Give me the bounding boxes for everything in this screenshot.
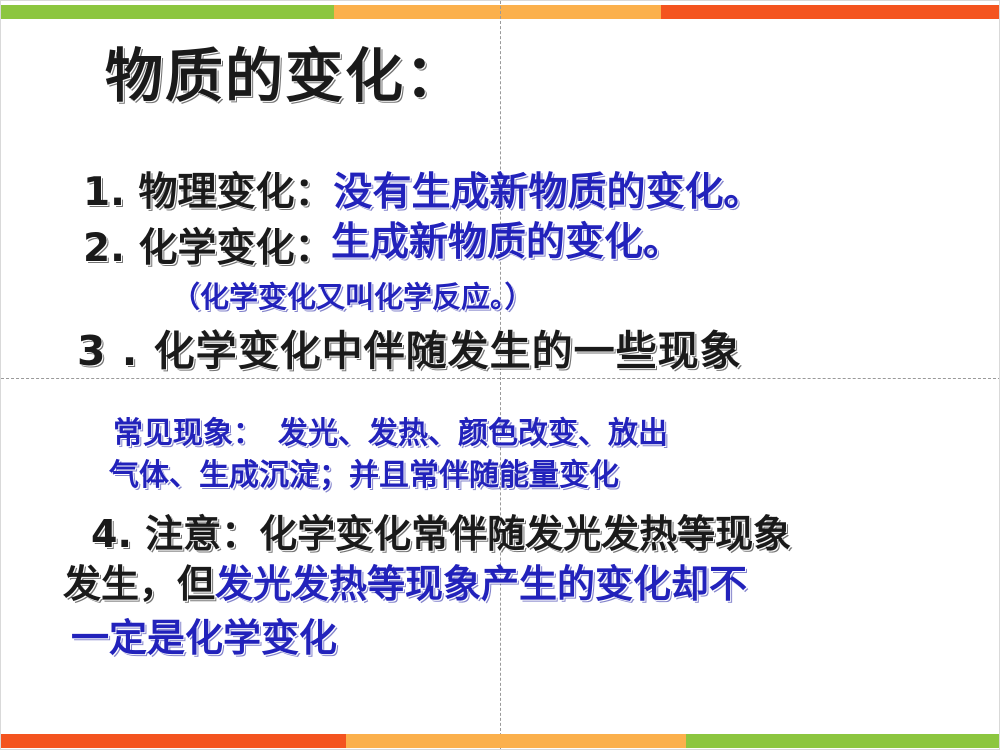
horizontal-guide-line bbox=[1, 378, 1000, 379]
bottom-bar-red-segment bbox=[1, 734, 346, 748]
item4-line-2: 发生，但发光发热等现象产生的变化却不 bbox=[63, 565, 747, 603]
top-bar-red-segment bbox=[661, 5, 1000, 19]
vertical-guide-line bbox=[500, 1, 501, 750]
item3-label: 3 . 化学变化中伴随发生的一些现象 bbox=[77, 331, 742, 372]
item2-note: （化学变化又叫化学反应。） bbox=[171, 283, 534, 312]
top-bar-orange-segment bbox=[334, 5, 661, 19]
slide-canvas: 物质的变化： 1. 物理变化：没有生成新物质的变化。 2. 化学变化： 生成新物… bbox=[0, 0, 1000, 750]
top-color-bar bbox=[1, 5, 1000, 19]
top-bar-green-segment bbox=[1, 5, 334, 19]
bottom-bar-orange-segment bbox=[346, 734, 686, 748]
bottom-color-bar bbox=[1, 734, 1000, 748]
item1-label: 1. 物理变化： bbox=[83, 170, 334, 215]
item1-definition: 没有生成新物质的变化。 bbox=[334, 170, 763, 215]
page-title: 物质的变化： bbox=[105, 47, 465, 105]
phenomena-line-2: 气体、生成沉淀；并且常伴随能量变化 bbox=[109, 461, 619, 491]
item4-line2-blue: 发光发热等现象产生的变化却不 bbox=[215, 562, 747, 606]
item4-line-3: 一定是化学变化 bbox=[71, 619, 337, 657]
bottom-bar-green-segment bbox=[686, 734, 1000, 748]
item2-label: 2. 化学变化： bbox=[83, 229, 334, 268]
item4-line2-black: 发生，但 bbox=[63, 562, 215, 606]
phenomena-line-1: 常见现象： 发光、发热、颜色改变、放出 bbox=[113, 419, 668, 449]
list-item-1: 1. 物理变化：没有生成新物质的变化。 bbox=[83, 173, 763, 212]
item4-line-1: 4. 注意：化学变化常伴随发光发热等现象 bbox=[91, 515, 791, 553]
item2-definition: 生成新物质的变化。 bbox=[331, 223, 682, 262]
